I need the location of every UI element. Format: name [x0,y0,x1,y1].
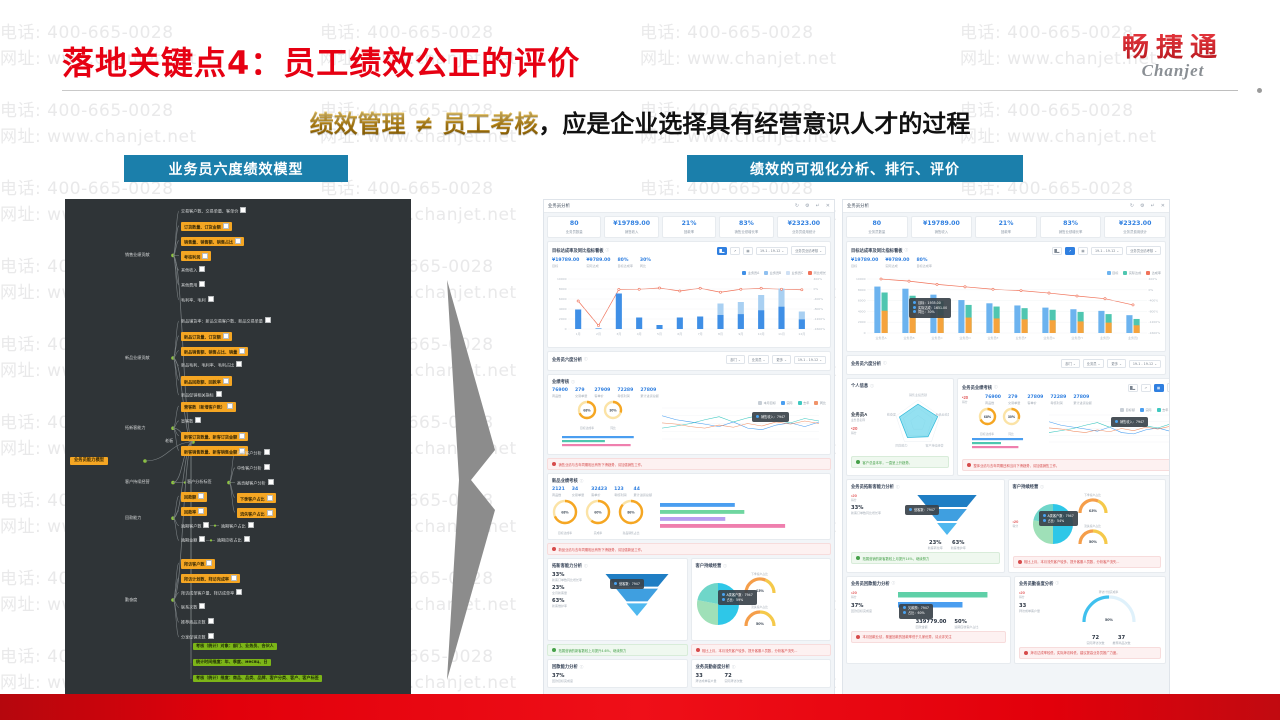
filter-chip[interactable]: 更多 ⌄ [772,355,790,364]
line-point [964,286,966,288]
metric: 76900商品数 [552,388,568,398]
legend-item: 同比 [814,400,826,405]
filter-chip[interactable]: 部门 ⌄ [1061,359,1079,368]
legend-item: 业务员C [786,270,803,275]
svg-text:2000: 2000 [559,317,567,321]
filter-chip[interactable]: 前十 ⌄ [1167,383,1170,392]
metric: 27909客单价 [594,388,610,398]
mindmap-branch-5: 勤奋度 [125,598,137,602]
legend-swatch [1120,408,1124,412]
panel-body: •20得分37%回款目标完成度339779.00回款金额50%逾期应收客户占比欠… [851,590,1006,629]
donut-gauge: 60%完成率 [585,499,611,535]
line-point [1104,298,1106,300]
svg-text:8000: 8000 [559,287,567,291]
legend-swatch [786,271,790,275]
pct-row: 33拜访成单客户量72实际拜访次数 [696,673,827,683]
bar [697,317,703,330]
panel-title: 业务员勤奋度分析 [696,664,730,670]
panel-title: 新品业绩考核 [552,478,578,484]
svg-text:4月: 4月 [637,332,642,336]
filter-chip[interactable]: 部门 ⌄ [726,355,744,364]
score-label: 得分 [851,498,891,502]
kpi-card: 80业务员数量 [547,216,601,238]
bar [1042,308,1048,333]
svg-text:12月: 12月 [798,332,805,336]
pct-col: 33%新客订单数同比增长率23%全月新客量63%新客维护率 [552,572,598,616]
line-point [908,280,910,282]
score-label: 得分 [851,595,885,599]
mindmap-branch-3: 客户持续经营 [125,480,150,484]
svg-text:50%: 50% [755,621,763,626]
kpi-row: 80业务员数量¥19789.00销售收入21%回款率83%销售业绩增长率¥232… [544,213,834,241]
tooltip-row: 占比：59% [722,598,753,603]
metric-label: 累计进货总额 [1073,400,1092,405]
window-controls: ↻⚙↵✕ [1130,204,1165,209]
bar [799,320,805,330]
mindmap-item: 联系次数 [181,603,205,610]
svg-text:-800%: -800% [1149,310,1159,314]
svg-text:68%: 68% [561,511,569,515]
header-divider [62,90,1238,91]
gauges: 68%目标达成率60%完成率86%新品销售占比 [552,499,644,535]
bar [966,318,972,333]
note-bullet [1024,651,1028,655]
filter-chip[interactable]: 19-1 - 19-12 ⌄ [1091,247,1123,255]
bar [717,315,723,329]
svg-text:业务员F: 业务员F [1016,335,1027,340]
kpi-label: 回款率 [977,229,1035,234]
gauge-label: 流失客户占比 [1077,524,1109,528]
logo-chinese: 畅捷通 [1088,34,1258,62]
svg-text:7月: 7月 [698,332,703,336]
metric: 32423客单价 [591,487,607,497]
kpi-card: 21%回款率 [662,216,716,238]
kpi-label: 业务员数量 [848,229,906,234]
person-role: 业务员名称 [851,418,885,422]
note-text: 相比上月，本月流失客户较多，提升客服人员数，分析客户流失... [1024,559,1119,564]
grid-row-bottom: 回款能力分析ⓘ37%回款目标完成度业务员勤奋度分析ⓘ33拜访成单客户量72实际拜… [547,659,831,688]
info-icon: ⓘ [732,665,736,670]
svg-text:业务员B: 业务员B [903,335,914,340]
chart-tooltip: 营客数：7947 [905,505,939,515]
info-icon: ⓘ [870,384,874,389]
legend-swatch [1140,408,1144,412]
kpi-value: 83% [721,221,771,228]
score-block: •20得分 [851,493,891,502]
series-line [1049,421,1170,433]
note-banner: 拜访达成率较低，实际拜访转低，建议提高业务员推广力度。 [1019,647,1161,659]
bar [1050,321,1056,334]
bar [1126,315,1132,333]
svg-text:63%: 63% [755,588,763,593]
svg-text:业务员J: 业务员J [1128,335,1138,340]
legend-item: 业务员B [764,270,781,275]
kpi-value: 21% [664,221,714,228]
panel-title: 目标达成率及同比指标看板 [851,248,903,254]
kpi-label: 业务员费用统计 [1106,229,1164,234]
filter-chip[interactable]: 19-1 - 19-12 ⌄ [794,356,826,364]
pct-label: 拜访成单客户量 [1019,609,1053,613]
mindmap-item: 新品铺货率：新品交易客户数、新品交易单量 [181,317,271,324]
window-controls: ↻⚙↵✕ [795,204,830,209]
bar [972,438,1023,440]
table-icon[interactable]: ↗ [1141,384,1151,392]
metric-label: 目标 [552,263,579,268]
trend-line [578,288,802,326]
legend-swatch [781,401,785,405]
kpi-card: 80业务员数量 [846,216,908,238]
bar [902,289,908,333]
metric-label: 考核利润 [614,492,626,497]
horizontal-bar-chart [962,436,1034,452]
bar [595,329,601,330]
svg-text:0: 0 [864,331,866,335]
mindmap-footer-2: 考核（统计）维度：商品、品类、品牌、客户分类、客户、客户标签 [193,675,322,682]
kpi-value: 83% [1042,221,1100,228]
panel-title: 客户持续经营 [1013,484,1039,490]
pct-item: 37%回款目标完成度 [851,603,885,613]
metric-label: 客单价 [1027,400,1043,405]
panel-toolbar: █▂↗▦前十 ⌄ [1128,383,1170,392]
note-bullet [552,462,556,466]
gear-icon[interactable]: ⚙ [805,204,809,209]
pie-slice [697,600,718,625]
legend-swatch [1157,408,1161,412]
metric-label: 商品数 [552,393,568,398]
score-block: •20得分 [1013,519,1029,528]
share-icon[interactable]: ↵ [1151,204,1155,209]
score-label: 得分 [1013,524,1029,528]
line-chart-icon[interactable]: █▂ [1128,384,1138,392]
metric: 2121商品数 [552,487,565,497]
svg-text:400%: 400% [814,277,823,281]
divider-end-dot [1257,88,1262,93]
note-bullet [552,648,556,652]
svg-text:业务员I: 业务员I [1100,335,1110,340]
bar [1078,322,1084,334]
bar [986,304,992,334]
bar [874,287,880,333]
note-row: 拓展营销的新客数较上月提升4.6%，继续努力相比上月，本月流失客户较多，提升客服… [547,644,831,656]
info-icon: ⓘ [723,564,727,569]
bar [660,524,785,528]
note-banner: 客户总金本年，一直呈上升趋势。 [851,456,949,468]
mindmap-item: 拜访计划数、拜访完成率 [181,574,240,584]
score-metrics: •20得分76900商品数279交易单量27809客单价72289考核利润278… [962,395,1170,407]
funnel-segment [937,523,957,535]
kpi-value: 21% [977,221,1035,228]
bar [972,442,1001,444]
kpi-label: 回款率 [664,229,714,234]
panel-new-product: 新品业绩考核ⓘ2121商品数34交易单量32423客单价123考核利润44累计进… [547,473,831,540]
dashboard-screenshot-b: 业务员分析↻⚙↵✕80业务员数量¥19789.00销售收入21%回款率83%销售… [842,199,1170,699]
filter-chip[interactable]: 19-1 - 19-12 ⌄ [1129,360,1161,368]
svg-text:0%: 0% [1149,288,1154,292]
mindmap-item: 订货数量、订货金额 [181,222,232,232]
donut-gauge: 30%同比 [603,400,623,430]
panel-diligence: 业务员勤奋度分析ⓘ33拜访成单客户量72实际拜访次数 [691,659,832,688]
panel-target-board: 目标达成率及同比指标看板ⓘ█▂↗▦19-1 - 19-12 ⌄业务员业绩考核 ⌄… [846,241,1166,352]
note-text: 相比上月，本月流失客户较多，提升客服人员数，分析客户流失... [702,648,797,653]
metric: ¥9789.00实际达成 [586,258,610,268]
score-label: 得分 [1019,595,1053,599]
note-text: 新品业绩与去年同期相比有所下滑趋势，请加强新品工作。 [559,547,645,552]
mindmap-branch-0: 销售业绩贡献 [125,253,150,257]
bar-chart: 10000400%80000%6000-400%4000-800%2000-12… [552,276,830,338]
note-bullet [696,648,700,652]
metric: 72289考核利润 [617,388,633,398]
note-banner: 相比上月，本月流失客户较多，提升客服人员数，分析客户流失... [691,644,832,656]
refresh-icon[interactable]: ↻ [1130,204,1134,209]
mindmap-subitem: 逾期应收占比 [217,536,250,543]
svg-text:6000: 6000 [858,299,866,303]
bar [758,311,764,330]
kpi-card: ¥19789.00销售收入 [911,216,973,238]
panel-title: 业务员拓新客能力分析 [851,484,894,490]
info-icon: ⓘ [584,357,588,362]
info-icon: ⓘ [1055,581,1059,586]
legend-swatch [1123,271,1127,275]
metric-label: 交易单量 [572,492,584,497]
chart-tooltip: A类客户数：7947占比：59% [718,590,757,605]
pct-item: 50%逾期应收客户占比 [954,619,978,629]
mindmap-item: 盲客数 [181,417,201,424]
svg-text:68%: 68% [983,415,991,419]
metric-label: 实际达成 [885,263,909,268]
tooltip-row: 占比：60% [903,611,929,616]
mindmap-branch-2: 拓新客能力 [125,426,145,430]
metric: 44累计进货总额 [634,487,653,497]
kpi-card: ¥2323.00业务员费用统计 [1104,216,1166,238]
mindmap-item: 下季客户占比 [237,493,276,503]
panel-body: 68%目标达成率30%同比本月目标实际去年同比销售收入：7947 [552,400,826,450]
chart-legend: 目标额实际去年同比 [1039,407,1170,412]
panel-performance: 业绩考核ⓘ76900商品数279交易单量27909客单价72289考核利润278… [547,374,831,455]
table-icon[interactable]: ▦ [743,247,753,255]
mindmap-item: 新品订货量、订货额 [181,332,232,342]
panel-personal-info: 个人信息ⓘ业务员A业务员名称•20得分销售业绩贡献新品业绩贡献客户持续经营回款能… [846,378,954,476]
line-point [577,300,579,302]
radar-chart: 销售业绩贡献新品业绩贡献客户持续经营回款能力勤奋度 [887,392,949,454]
metric-label: 客单价 [594,393,610,398]
metric: 76900商品数 [985,395,1001,405]
metrics-row: 76900商品数279交易单量27909客单价72289考核利润27809累计进… [552,388,826,398]
close-icon[interactable]: ✕ [1161,204,1165,209]
bar [1134,326,1140,334]
panel-title: 业绩考核 [552,379,569,385]
svg-text:业务员G: 业务员G [1043,335,1055,340]
gauge-label: 新品销售占比 [618,531,644,535]
kpi-label: 销售收入 [606,229,656,234]
legend-swatch [798,401,802,405]
panel-title: 业务员业绩考核 [962,385,992,391]
score-block: •20得分 [1019,590,1053,599]
note-banner: 相比上月，本月流失客户较多，提升客服人员数，分析客户流失... [1013,556,1162,568]
panel-toolbar: █▂↗▦19-1 - 19-12 ⌄业务员业绩考核 ⌄ [717,246,826,255]
horizontal-bar-chart [552,434,644,450]
legend-swatch [1146,271,1150,275]
svg-text:30%: 30% [1007,415,1015,419]
svg-text:-1600%: -1600% [1149,331,1161,335]
bar [994,319,1000,334]
subtitle-rest: ，应是企业选择具有经营意识人才的过程 [538,110,970,138]
svg-text:业务员E: 业务员E [988,335,999,340]
panel-target-board: 目标达成率及同比指标看板ⓘ█▂↗▦19-1 - 19-12 ⌄业务员业绩考核 ⌄… [547,241,831,348]
svg-text:业务员C: 业务员C [931,335,942,340]
svg-text:6000: 6000 [559,297,567,301]
metric: ¥19789.00目标 [851,258,878,268]
gauge-label: 下季客户占比 [743,572,777,576]
bar [958,300,964,333]
filter-chip[interactable]: 业务员业绩考核 ⌄ [791,246,826,255]
page-title: 落地关键点4：员工绩效公正的评价 [62,38,580,84]
transition-arrow [425,280,495,680]
funnel-wrap: 23%新客转化率63%新客维护率 [894,493,1000,550]
mindmap-item: 中性客户分析 [237,464,270,471]
filter-chip[interactable]: 业务员 ⌄ [748,355,770,364]
panel-body: 68%目标达成率60%完成率86%新品销售占比 [552,499,826,535]
metric: 279交易单量 [575,388,587,398]
mindmap-item: 新品促销相关指标 [181,391,222,398]
gauge-group: 68%目标达成率30%同比 [962,407,1036,457]
close-icon[interactable]: ✕ [826,204,830,209]
panel-customer-ops: 客户持续经营ⓘ下季客户占比63%流失客户占比50%A类客户数：7947占比：59… [691,558,832,641]
metric: 34交易单量 [572,487,584,497]
line-area: 本月目标实际去年同比销售收入：7947 [652,400,826,449]
bar-chart-icon[interactable]: ▦ [1154,384,1164,392]
dashboard-screenshot-a: 业务员分析↻⚙↵✕80业务员数量¥19789.00销售收入21%回款率83%销售… [543,199,835,699]
metric: 27809累计进货总额 [640,388,659,398]
window-title: 业务员分析 [548,203,570,209]
metric: ¥19789.00目标 [552,258,579,268]
kpi-value: 80 [848,221,906,228]
panel-customer-ops: 客户持续经营ⓘ•20得分下季客户占比63%流失客户占比50%A类客户数：7947… [1008,479,1167,573]
panel-body: 业务员A业务员名称•20得分销售业绩贡献新品业绩贡献客户持续经营回款能力勤奋度 [851,392,949,454]
svg-text:11月: 11月 [778,332,785,336]
gauge-label: 完成率 [585,531,611,535]
pct-item: 37推荐商品次数 [1113,635,1131,645]
legend-item: 目标 [1107,270,1119,275]
line-chart [652,406,822,444]
line-point [880,278,882,280]
filter-chip[interactable]: 业务员业绩考核 ⌄ [1126,246,1161,255]
pct-label: 实际拜访次数 [1086,641,1104,645]
svg-text:86%: 86% [627,511,635,515]
table-icon[interactable]: ▦ [1078,247,1088,255]
refresh-icon[interactable]: ↻ [795,204,799,209]
note-banner: 拓展营销的新客数较上月提升4.6%，继续努力 [547,644,688,656]
metric: 279交易单量 [1008,395,1020,405]
chart-wrap: 10000400%80000%6000-400%4000-800%2000-12… [851,276,1161,347]
logo-english: Chanjet [1088,61,1258,81]
metric: ¥9789.00实际达成 [885,258,909,268]
half-gauge: 下季客户占比63% [1077,493,1109,523]
pct-label: 回款目标完成度 [851,609,885,613]
chart-legend: 目标实际达成达成率 [851,270,1161,275]
note-banner: 新品业绩与去年同期相比有所下滑趋势，请加强新品工作。 [547,543,831,555]
metric: 80%目标达成率 [916,258,931,268]
kpi-label: 销售收入 [913,229,971,234]
kpi-label: 业务员数量 [549,229,599,234]
pct-item: 33%新客订单数同比增长率 [851,505,891,515]
tooltip-row: 占比：54% [1043,519,1074,524]
line-chart-icon[interactable]: ↗ [730,247,740,255]
score-block: •20得分 [851,590,885,599]
mindmap-item: 新品毛利、毛利率、毛利占比 [181,361,242,368]
subtitle-highlight: 绩效管理 ≠ 员工考核 [310,110,539,138]
panel-title: 业务员勤奋度分析 [1019,581,1053,587]
bar [562,444,631,446]
gauges: 68%目标达成率30%同比 [552,400,648,430]
kpi-value: ¥2323.00 [779,221,829,228]
legend-item: 本月目标 [758,400,776,405]
svg-text:60%: 60% [594,511,602,515]
bar [1098,311,1104,333]
filter-chip[interactable]: 19-1 - 19-12 ⌄ [756,247,788,255]
metric-label: 商品数 [552,492,565,497]
note-banner: 本月回款业绩，覆盖回款的回款率低于几家优秀，请点评关注 [851,631,1006,643]
bar [562,436,634,438]
filter-chip[interactable]: 更多 ⌄ [1107,359,1125,368]
mindmap-item: 拜访成单客户量、拜访成单率 [181,589,242,596]
kpi-value: ¥2323.00 [1106,221,1164,228]
line-point [1020,290,1022,292]
gauges: 68%目标达成率30%同比 [962,407,1036,436]
note-text: 拓展营销的新客数较上月提升14%，继续努力 [863,556,930,561]
bar-chart-icon[interactable]: █▂ [1052,247,1062,255]
legend-item: 实际达成 [1123,270,1141,275]
chanjet-logo: 畅捷通 Chanjet [1088,34,1258,81]
svg-text:-1200%: -1200% [814,317,826,321]
svg-text:回款能力: 回款能力 [896,443,908,448]
metrics-row: ¥19789.00目标¥9789.00实际达成80%目标达成率30%同比 [552,258,826,268]
bar-chart: 10000400%80000%6000-400%4000-800%2000-12… [851,276,1165,342]
bar [882,311,888,333]
pct-item: 63%新客维护率 [951,540,966,550]
bar [656,325,662,329]
line-point [1048,292,1050,294]
note-bullet [552,547,556,551]
note-bullet [856,460,860,464]
pct-item: 23%全月新客量 [552,585,598,595]
line-point [618,289,620,291]
kpi-label: 销售业绩增长率 [1042,229,1100,234]
line-chart-icon[interactable]: ↗ [1065,247,1075,255]
filter-chip[interactable]: 业务员 ⌄ [1083,359,1105,368]
svg-text:8000: 8000 [858,288,866,292]
pct-label: 实际拜访次数 [725,679,743,683]
gear-icon[interactable]: ⚙ [1140,204,1144,209]
gauge-label: 流失客户占比 [743,605,777,609]
svg-text:68%: 68% [583,409,591,413]
metric-label: 实际达成 [586,263,610,268]
bar-chart-icon[interactable]: █▂ [717,247,727,255]
bar [677,318,683,330]
svg-text:-400%: -400% [1149,299,1159,303]
pct-label: 全月新客量 [552,591,598,595]
metrics-row: 76900商品数279交易单量27809客单价72289考核利润27809累计进… [985,395,1092,405]
line-point [658,287,660,289]
svg-text:4000: 4000 [858,310,866,314]
svg-text:新品业绩贡献: 新品业绩贡献 [936,412,949,417]
mindmap-item: 逾期客户数 [181,522,209,529]
info-icon: ⓘ [883,361,887,366]
donut-gauge: 86%新品销售占比 [618,499,644,535]
chart-legend: 本月目标实际去年同比 [652,400,826,405]
share-icon[interactable]: ↵ [816,204,820,209]
kpi-value: ¥19789.00 [606,221,656,228]
bar [660,510,744,514]
